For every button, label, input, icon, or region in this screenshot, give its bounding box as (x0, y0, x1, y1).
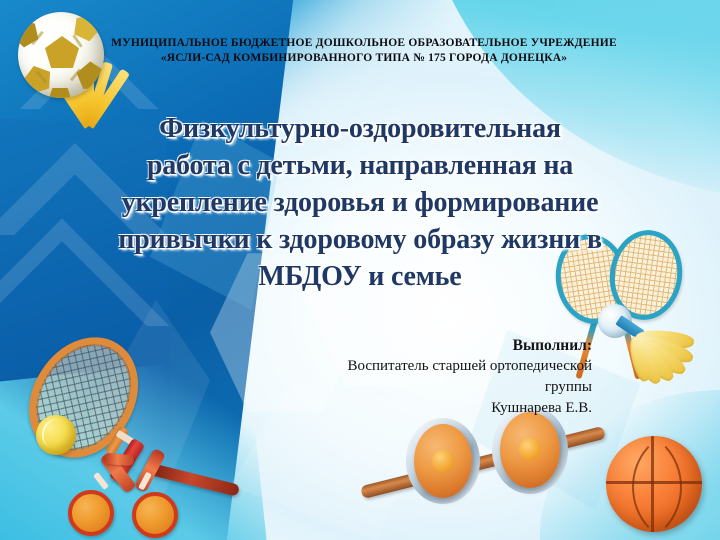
title-line-2: работа с детьми, направленная на (52, 147, 668, 184)
title-line-4: привычки к здоровому образу жизни в (52, 221, 668, 258)
title-line-3: укрепление здоровья и формирование (52, 184, 668, 221)
author-attribution: Выполнил: Воспитатель старшей ортопедиче… (347, 336, 592, 419)
author-label: Выполнил: (347, 336, 592, 356)
basketball-icon (606, 436, 702, 532)
institution-header: МУНИЦИПАЛЬНОЕ БЮДЖЕТНОЕ ДОШКОЛЬНОЕ ОБРАЗ… (40, 36, 688, 66)
title-line-5: МБДОУ и семье (52, 258, 668, 295)
shuttlecock-icon (596, 300, 702, 396)
small-dumbbells-icon (70, 448, 190, 526)
institution-name-line-1: МУНИЦИПАЛЬНОЕ БЮДЖЕТНОЕ ДОШКОЛЬНОЕ ОБРАЗ… (40, 36, 688, 51)
barbell-icon (400, 402, 640, 522)
title-line-1: Физкультурно-оздоровительная (52, 110, 668, 147)
author-position-line-1: Воспитатель старшей ортопедической (347, 356, 592, 377)
author-name: Кушнарева Е.В. (347, 398, 592, 419)
presentation-slide: МУНИЦИПАЛЬНОЕ БЮДЖЕТНОЕ ДОШКОЛЬНОЕ ОБРАЗ… (0, 0, 720, 540)
author-position-line-2: группы (347, 377, 592, 398)
slide-title: Физкультурно-оздоровительная работа с де… (52, 110, 668, 295)
institution-name-line-2: «ЯСЛИ-САД КОМБИНИРОВАННОГО ТИПА № 175 ГО… (40, 51, 688, 66)
